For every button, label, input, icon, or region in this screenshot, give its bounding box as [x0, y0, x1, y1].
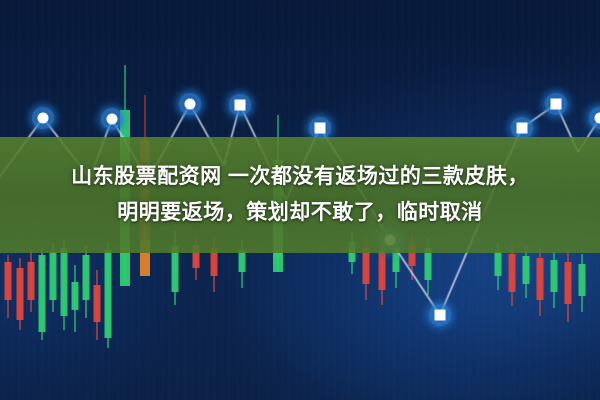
zigzag-node-square	[517, 123, 528, 134]
zigzag-node-square	[435, 310, 446, 321]
zigzag-node-circle	[38, 113, 49, 124]
banner-image: 山东股票配资网 一次都没有返场过的三款皮肤， 明明要返场，策划却不敢了，临时取消	[0, 0, 600, 400]
zigzag-node-square	[235, 100, 246, 111]
zigzag-node-square	[315, 123, 326, 134]
zigzag-node-square	[551, 99, 562, 110]
green-caption-band	[0, 137, 600, 253]
zigzag-node-circle	[107, 114, 118, 125]
zigzag-node-circle	[185, 99, 196, 110]
